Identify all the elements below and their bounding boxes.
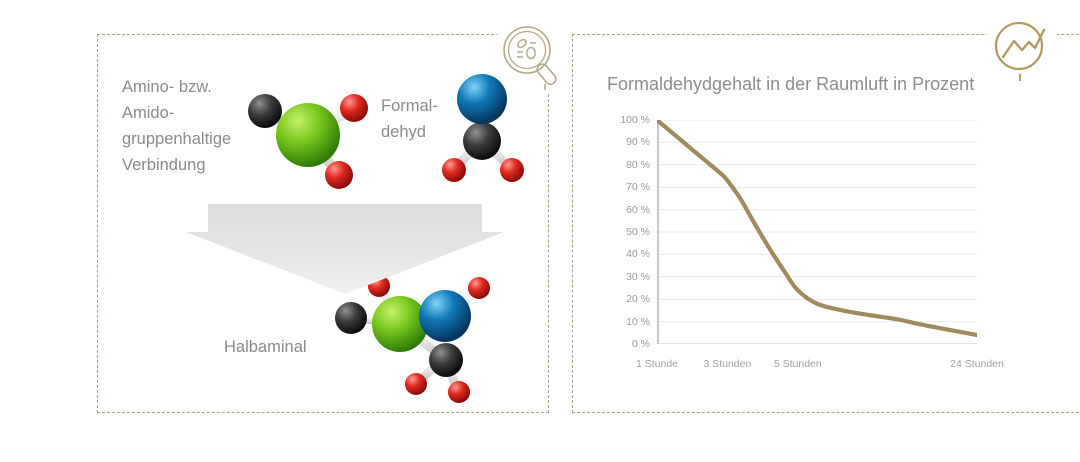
y-axis-tick: 100 %	[604, 114, 650, 126]
chart-data-line	[657, 120, 977, 335]
downward-reaction-arrow	[186, 204, 504, 294]
y-axis-labels: 100 %90 %80 %70 %60 %50 %40 %30 %20 %10 …	[600, 120, 650, 385]
formaldehyde-molecule	[432, 68, 536, 190]
line-chart: 100 %90 %80 %70 %60 %50 %40 %30 %20 %10 …	[600, 120, 1000, 385]
y-axis-tick: 60 %	[604, 204, 650, 216]
chart-title: Formaldehydgehalt in der Raumluft in Pro…	[607, 74, 974, 95]
x-axis-tick: 1 Stunde	[636, 358, 678, 370]
chart-gridlines	[658, 120, 977, 344]
y-axis-tick: 80 %	[604, 159, 650, 171]
y-axis-tick: 50 %	[604, 226, 650, 238]
amino-compound-molecule	[236, 80, 386, 195]
x-axis-tick: 24 Stunden	[950, 358, 1004, 370]
y-axis-tick: 70 %	[604, 181, 650, 193]
trend-chart-circle-icon	[987, 14, 1057, 84]
y-axis-tick: 30 %	[604, 271, 650, 283]
x-axis-tick: 5 Stunden	[774, 358, 822, 370]
y-axis-tick: 0 %	[604, 338, 650, 350]
x-axis-tick: 3 Stunden	[703, 358, 751, 370]
y-axis-tick: 20 %	[604, 293, 650, 305]
chart-plot-area	[657, 120, 977, 344]
y-axis-tick: 10 %	[604, 316, 650, 328]
x-axis-labels: 1 Stunde3 Stunden5 Stunden24 Stunden	[657, 358, 977, 378]
y-axis-tick: 90 %	[604, 136, 650, 148]
y-axis-tick: 40 %	[604, 248, 650, 260]
